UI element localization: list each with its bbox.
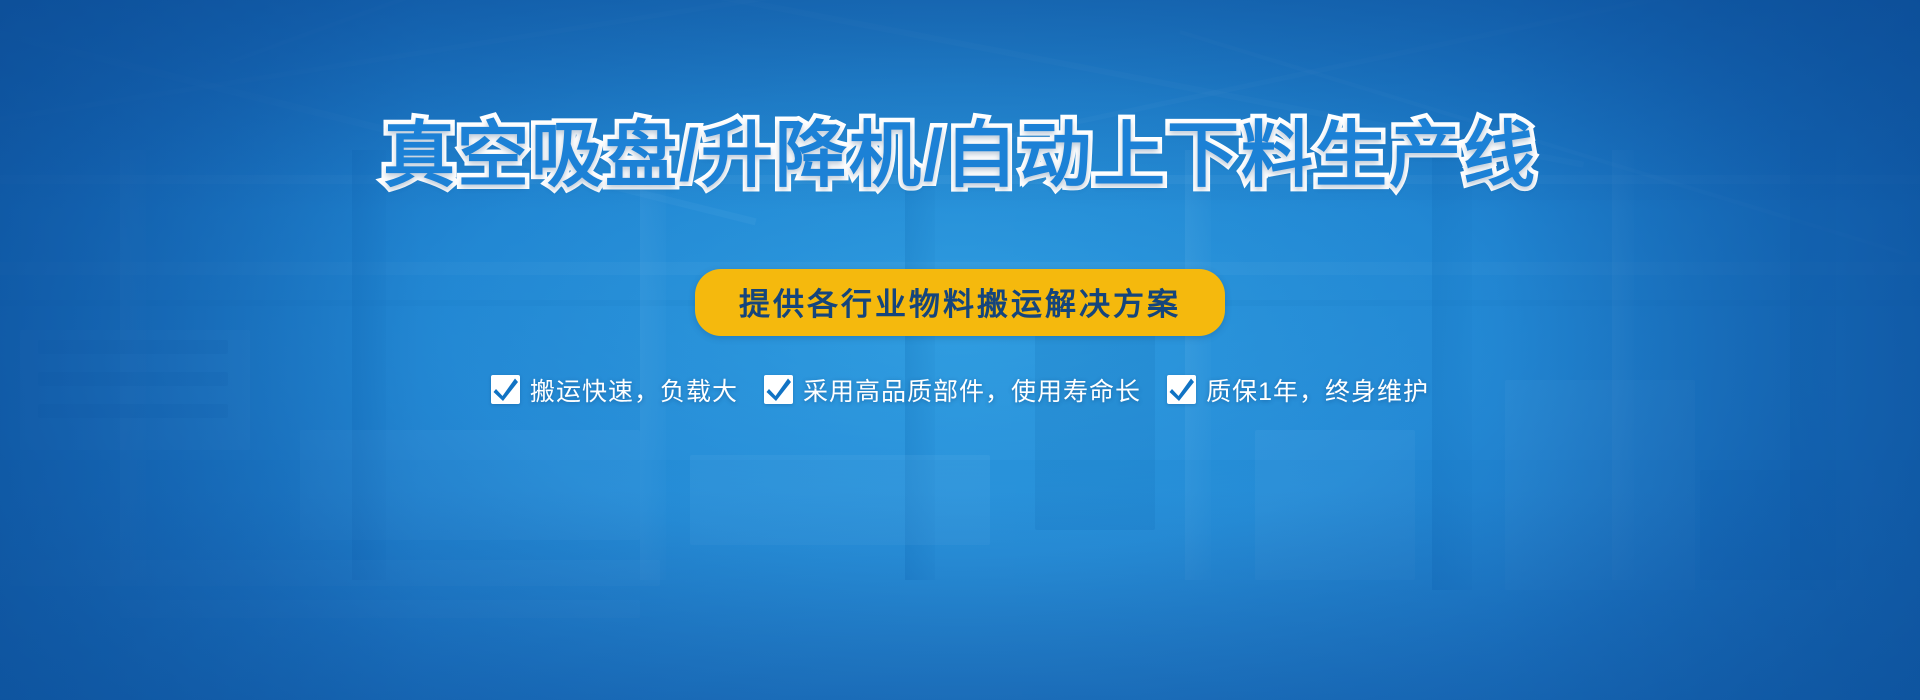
feature-item: 质保1年，终身维护 xyxy=(1167,372,1429,408)
promo-banner: 真空吸盘/升降机/自动上下料生产线 提供各行业物料搬运解决方案 搬运快速，负载大… xyxy=(0,0,1920,700)
feature-label: 质保1年，终身维护 xyxy=(1206,372,1429,408)
feature-list: 搬运快速，负载大 采用高品质部件，使用寿命长 质保1年，终身维护 xyxy=(491,372,1429,408)
check-icon xyxy=(491,375,520,404)
feature-label: 搬运快速，负载大 xyxy=(530,372,738,408)
feature-item: 采用高品质部件，使用寿命长 xyxy=(764,372,1141,408)
check-icon xyxy=(1167,375,1196,404)
feature-label: 采用高品质部件，使用寿命长 xyxy=(803,372,1141,408)
banner-headline: 真空吸盘/升降机/自动上下料生产线 xyxy=(383,118,1537,194)
check-icon xyxy=(764,375,793,404)
banner-subtitle-pill: 提供各行业物料搬运解决方案 xyxy=(695,269,1225,336)
banner-content: 真空吸盘/升降机/自动上下料生产线 提供各行业物料搬运解决方案 搬运快速，负载大… xyxy=(0,0,1920,700)
feature-item: 搬运快速，负载大 xyxy=(491,372,738,408)
